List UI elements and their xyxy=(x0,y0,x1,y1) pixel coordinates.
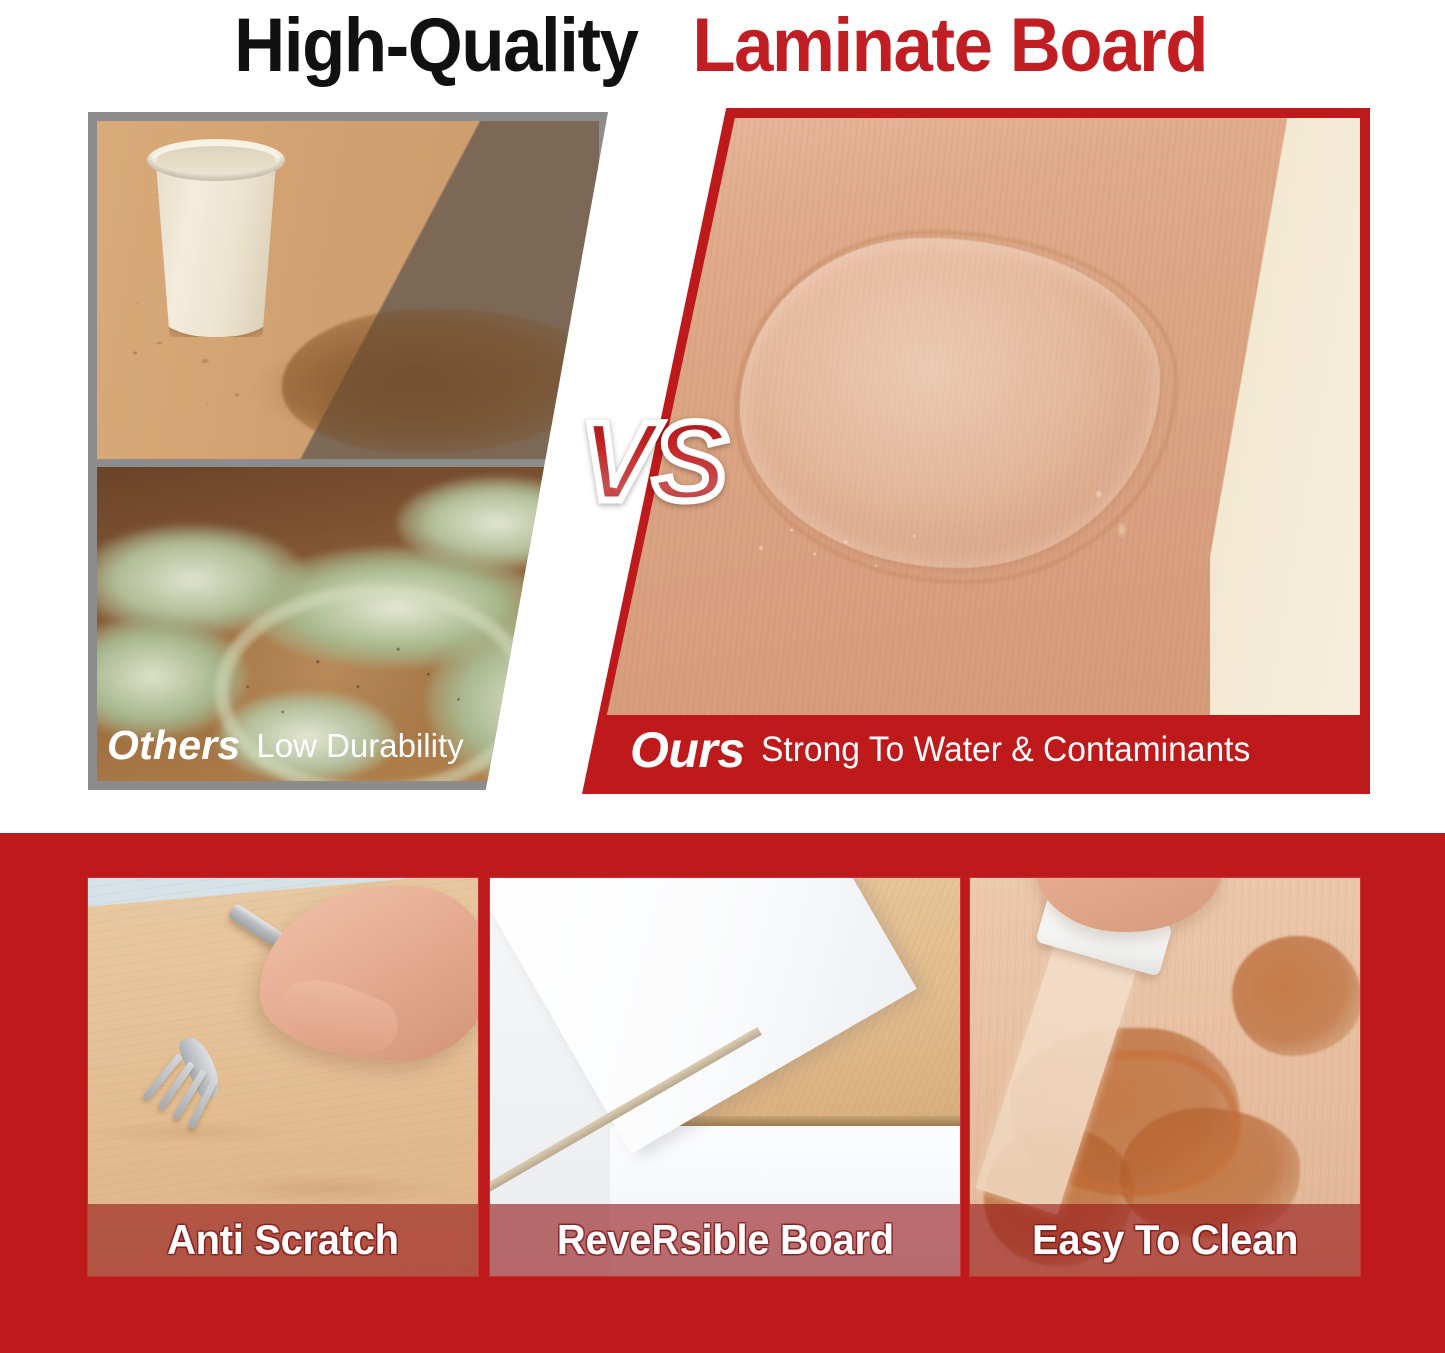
features-section: Anti Scratch ReveRsible Board xyxy=(0,833,1445,1353)
versus-badge: VS xyxy=(580,406,725,518)
feature-label-text: Anti Scratch xyxy=(167,1216,399,1264)
comparison-section: Others Low Durability Ours Strong To Wat… xyxy=(0,100,1445,800)
others-subtitle: Low Durability xyxy=(256,729,463,762)
feature-label-bar: Anti Scratch xyxy=(88,1204,478,1276)
page-title-primary: High-Quality xyxy=(234,8,637,84)
ours-title: Ours xyxy=(630,725,745,775)
others-panel: Others Low Durability xyxy=(88,112,608,790)
feature-label-text-start: Reve xyxy=(557,1216,651,1263)
feature-label-bar: ReveRsible Board xyxy=(490,1204,960,1276)
page-title-accent: Laminate Board xyxy=(692,8,1207,84)
board-side-edge xyxy=(1210,118,1360,715)
feature-card-easy-to-clean: Easy To Clean xyxy=(970,878,1360,1276)
ours-caption-bar: Ours Strong To Water & Contaminants xyxy=(592,715,1360,784)
others-title: Others xyxy=(107,725,240,766)
paper-cup-rim xyxy=(147,139,285,181)
feature-label-text: Easy To Clean xyxy=(1032,1216,1298,1264)
others-photo-stack: Others Low Durability xyxy=(97,121,599,781)
feature-label-text-end: sible Board xyxy=(679,1216,893,1263)
reversed-r-glyph: R xyxy=(651,1216,678,1264)
photo-cup-spill-on-particle-board xyxy=(97,121,599,459)
feature-label-text: ReveRsible Board xyxy=(557,1216,894,1264)
sauce-spill xyxy=(1232,936,1360,1056)
page-title: High-Quality Laminate Board xyxy=(0,0,1445,92)
feature-label-bar: Easy To Clean xyxy=(970,1204,1360,1276)
others-caption-bar: Others Low Durability xyxy=(97,709,599,781)
wood-board-edge xyxy=(648,1116,960,1126)
feature-card-anti-scratch: Anti Scratch xyxy=(88,878,478,1276)
feature-card-reversible-board: ReveRsible Board xyxy=(490,878,960,1276)
fork-head xyxy=(143,1044,243,1140)
ours-subtitle: Strong To Water & Contaminants xyxy=(761,732,1250,767)
